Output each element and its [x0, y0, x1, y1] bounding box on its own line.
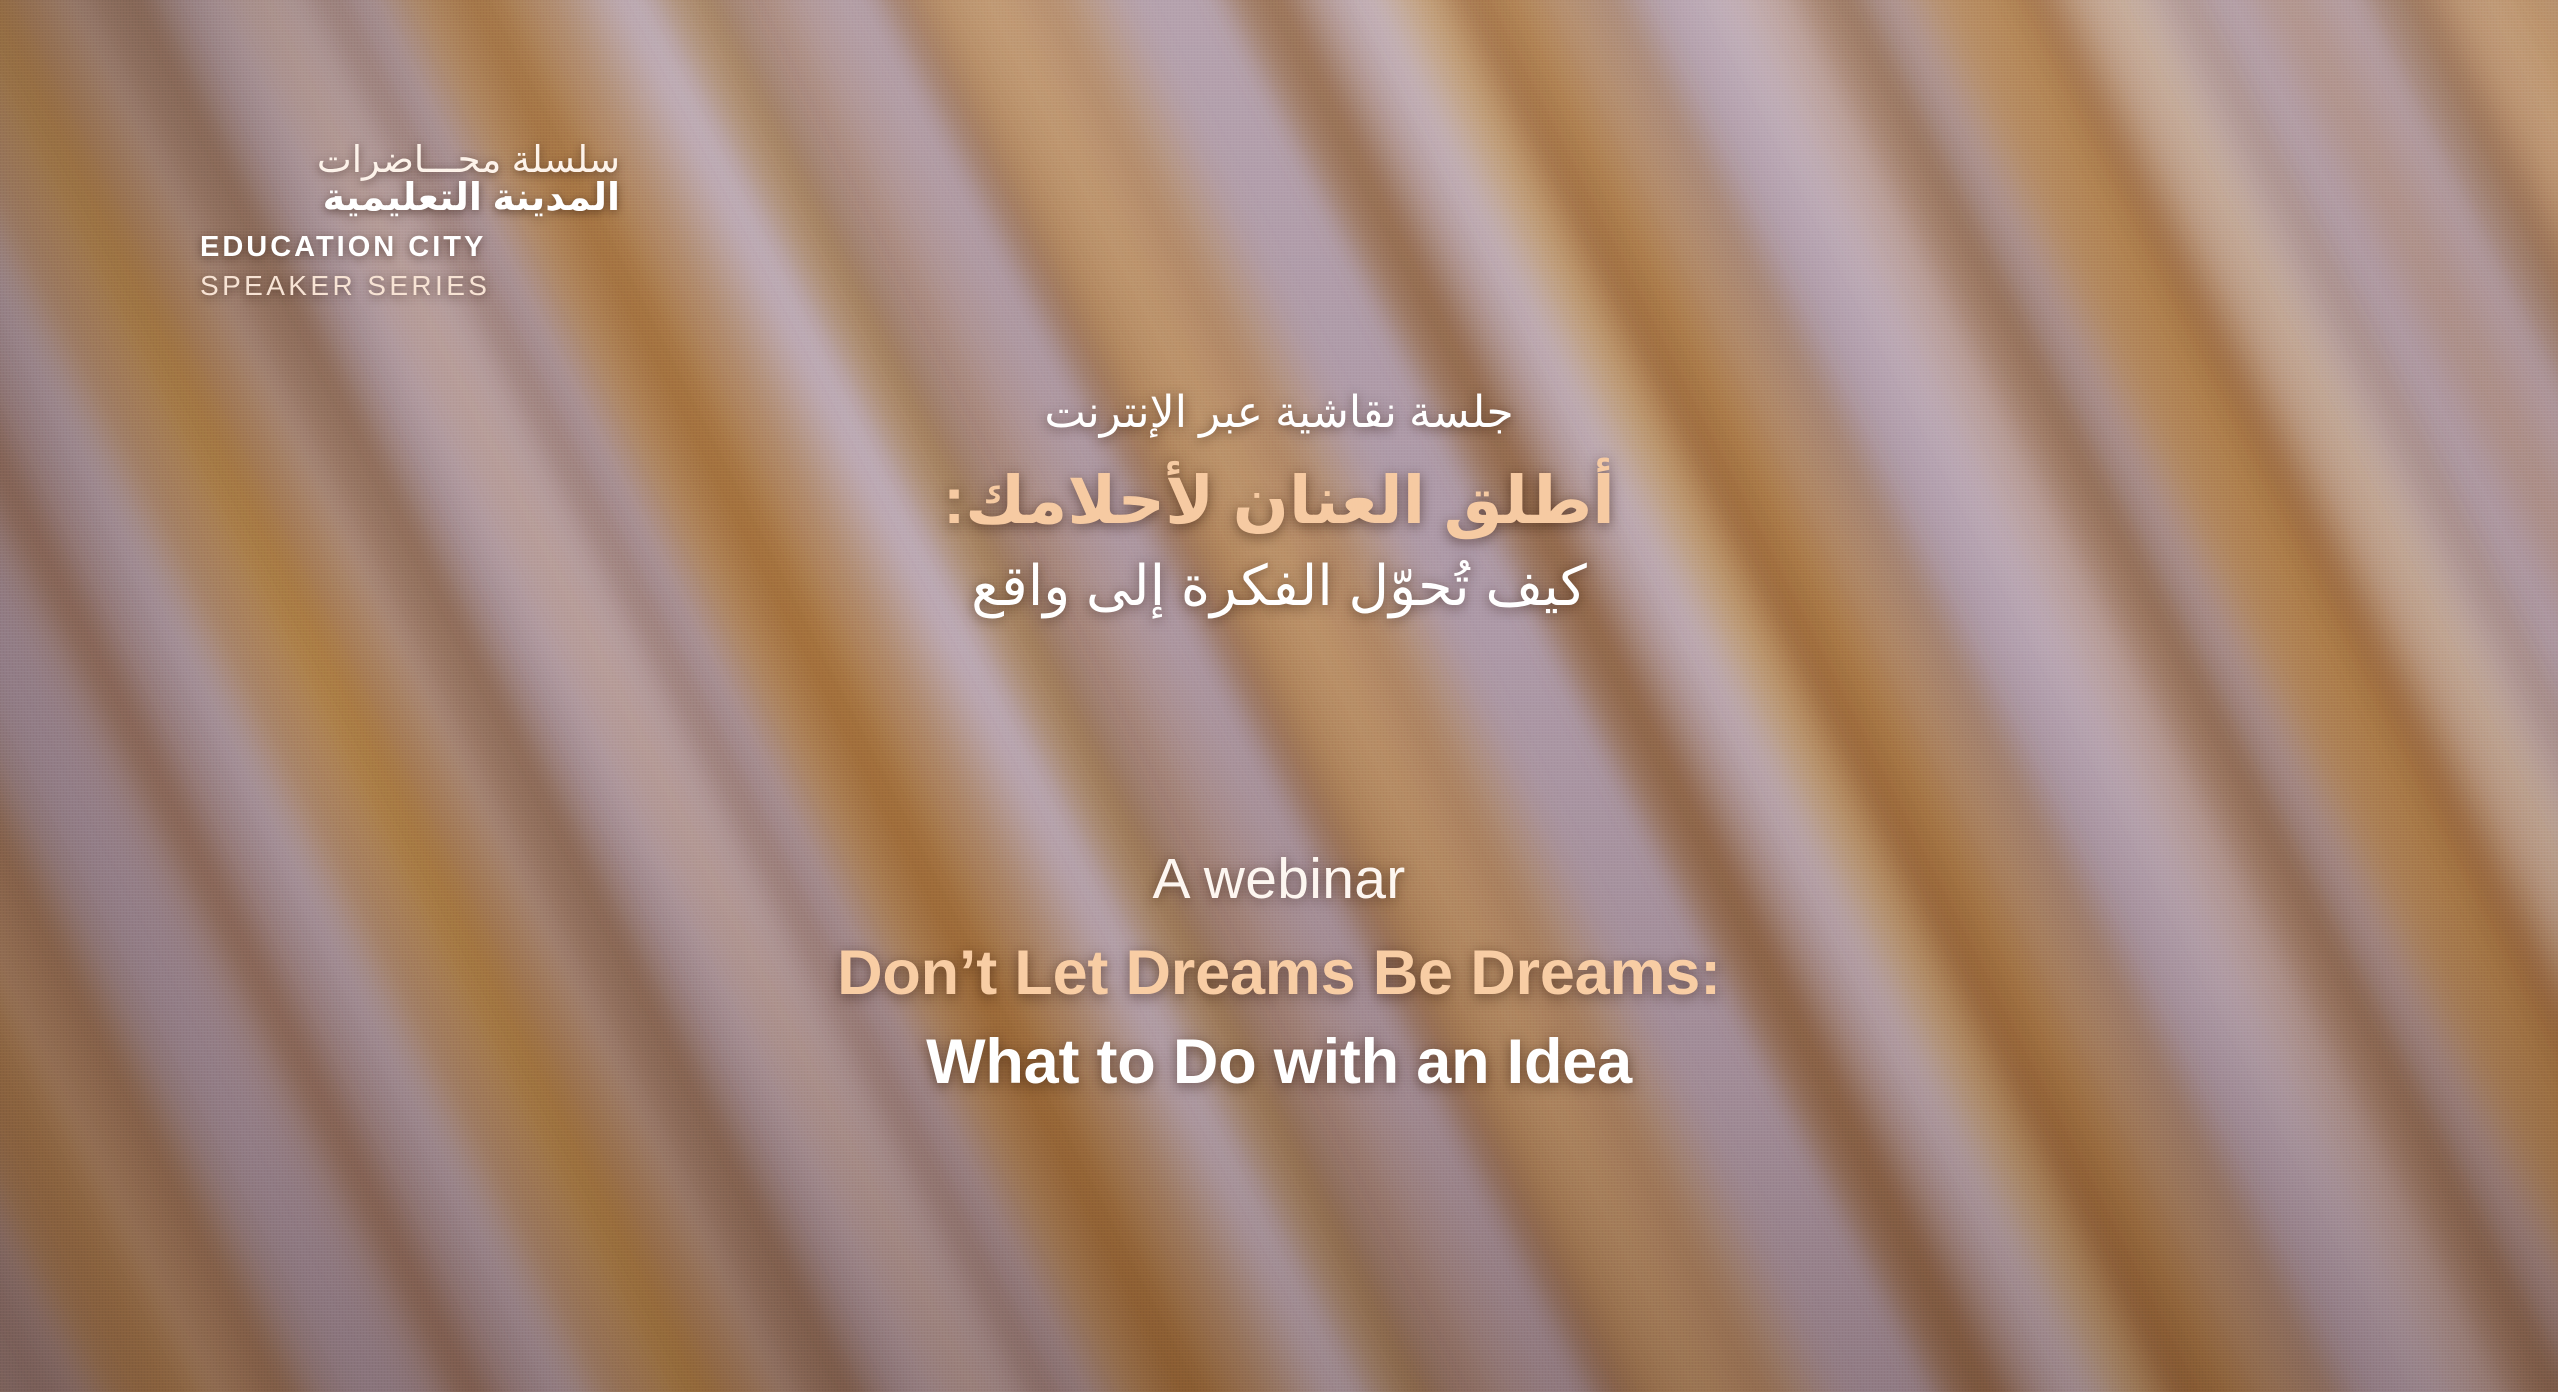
logo-english-line-1: EDUCATION CITY	[200, 231, 620, 264]
arabic-kicker: جلسة نقاشية عبر الإنترنت	[429, 385, 2129, 440]
arabic-title: أطلق العنان لأحلامك:	[429, 458, 2129, 544]
english-title-block: A webinar Don’t Let Dreams Be Dreams: Wh…	[429, 845, 2129, 1101]
title-card-slide: سلسلة محـــاضرات المدينة التعليمية EDUCA…	[0, 0, 2558, 1392]
english-subtitle: What to Do with an Idea	[429, 1024, 2129, 1101]
english-kicker: A webinar	[429, 845, 2129, 913]
logo-lockup: سلسلة محـــاضرات المدينة التعليمية EDUCA…	[200, 140, 620, 302]
arabic-title-block: جلسة نقاشية عبر الإنترنت أطلق العنان لأح…	[429, 385, 2129, 623]
logo-arabic-line-2: المدينة التعليمية	[200, 177, 620, 220]
logo-english-line-2: SPEAKER SERIES	[200, 270, 620, 302]
logo-arabic-line-1: سلسلة محـــاضرات	[200, 140, 620, 179]
arabic-subtitle: كيف تُحوّل الفكرة إلى واقع	[429, 550, 2129, 623]
english-title: Don’t Let Dreams Be Dreams:	[429, 935, 2129, 1012]
